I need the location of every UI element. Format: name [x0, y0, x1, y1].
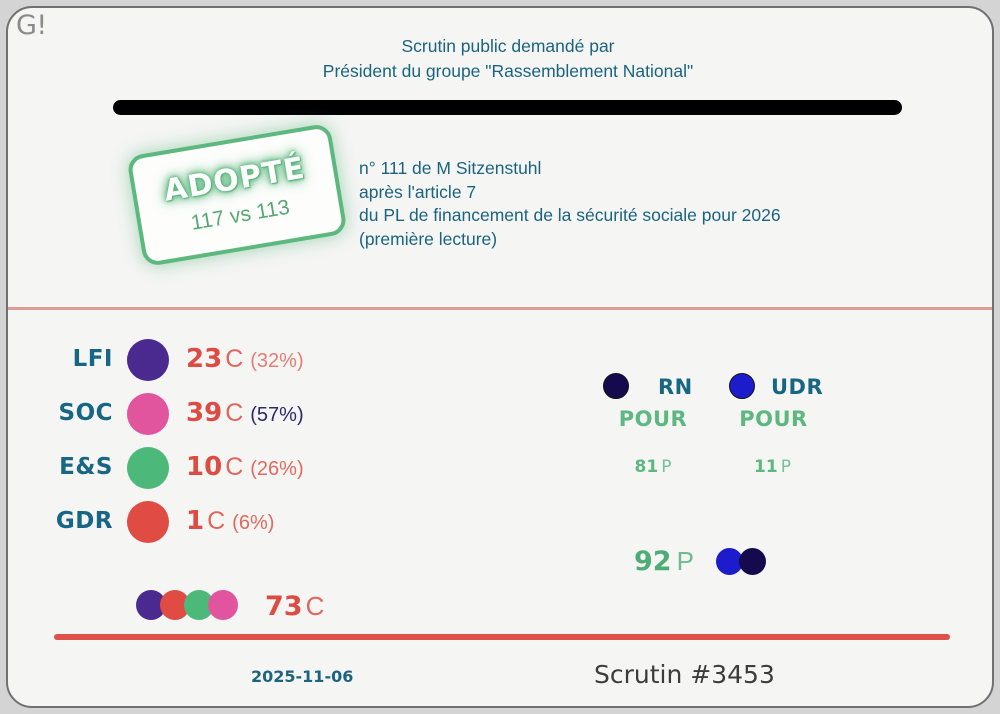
header-line-2: Président du groupe "Rassemblement Natio…	[8, 59, 994, 84]
result-stamp-body: ADOPTÉ 117 vs 113	[126, 123, 348, 267]
group-percent: (6%)	[232, 512, 274, 534]
group-color-dot	[127, 447, 169, 489]
right-total-unit: P	[677, 546, 694, 577]
left-total-value: 73C	[265, 591, 324, 622]
party-count: 11P	[675, 457, 870, 477]
group-unit: C	[225, 345, 243, 373]
group-name: E&S	[8, 454, 113, 480]
redaction-bar	[113, 100, 902, 115]
group-count: 39	[186, 398, 222, 428]
party-count-unit: P	[661, 457, 671, 477]
party-name: UDR	[771, 375, 823, 399]
group-count: 1	[186, 506, 204, 536]
group-percent: (26%)	[250, 458, 303, 480]
group-name: SOC	[8, 400, 113, 426]
group-value: 1C(6%)	[186, 506, 274, 536]
description-line-4: (première lecture)	[359, 228, 781, 252]
party-count-unit: P	[781, 457, 791, 477]
group-name: GDR	[8, 508, 113, 534]
party-header: RN	[573, 373, 733, 403]
right-total: 92 P	[634, 546, 766, 577]
group-count: 23	[186, 344, 222, 374]
party-vote: POUR	[677, 407, 870, 431]
party-color-dot	[603, 373, 629, 399]
scrutin-id: Scrutin #3453	[594, 660, 775, 689]
screenshot-root: G! Scrutin public demandé par Président …	[0, 0, 1000, 714]
total-dot-soc	[208, 590, 238, 620]
group-percent: (32%)	[250, 350, 303, 372]
group-color-dot	[127, 501, 169, 543]
description-line-1: n° 111 de M Sitzenstuhl	[359, 157, 781, 181]
party-header: UDR	[710, 373, 870, 403]
group-unit: C	[207, 507, 225, 535]
group-value: 39C(57%)	[186, 398, 304, 428]
party-color-dot	[729, 373, 755, 399]
group-value: 10C(26%)	[186, 452, 304, 482]
group-value: 23C(32%)	[186, 344, 304, 374]
header-title: Scrutin public demandé par Président du …	[8, 34, 994, 84]
left-total-count: 73	[265, 591, 303, 622]
right-total-dots	[716, 548, 766, 575]
party-count-number: 81	[635, 457, 659, 477]
group-unit: C	[225, 399, 243, 427]
vote-result-card: G! Scrutin public demandé par Président …	[6, 6, 994, 708]
party-count-number: 11	[754, 457, 778, 477]
section-divider	[8, 307, 994, 310]
description-line-2: après l'article 7	[359, 181, 781, 205]
result-stamp: ADOPTÉ 117 vs 113	[126, 123, 348, 267]
total-dot-rn	[739, 548, 766, 575]
left-total-dots	[136, 590, 238, 620]
group-color-dot	[127, 393, 169, 435]
party-block-udr[interactable]: UDR POUR 11P	[710, 373, 870, 477]
amendment-description: n° 111 de M Sitzenstuhl après l'article …	[359, 157, 781, 251]
group-unit: C	[225, 453, 243, 481]
group-percent: (57%)	[250, 404, 303, 426]
description-line-3: du PL de financement de la sécurité soci…	[359, 204, 781, 228]
group-count: 10	[186, 452, 222, 482]
right-total-count: 92	[634, 546, 672, 577]
header-line-1: Scrutin public demandé par	[8, 34, 994, 59]
left-total-unit: C	[306, 591, 325, 621]
group-color-dot	[127, 339, 169, 381]
party-name: RN	[658, 375, 693, 399]
vote-date: 2025-11-06	[251, 667, 353, 686]
group-name: LFI	[8, 346, 113, 372]
footer-divider	[54, 634, 950, 640]
